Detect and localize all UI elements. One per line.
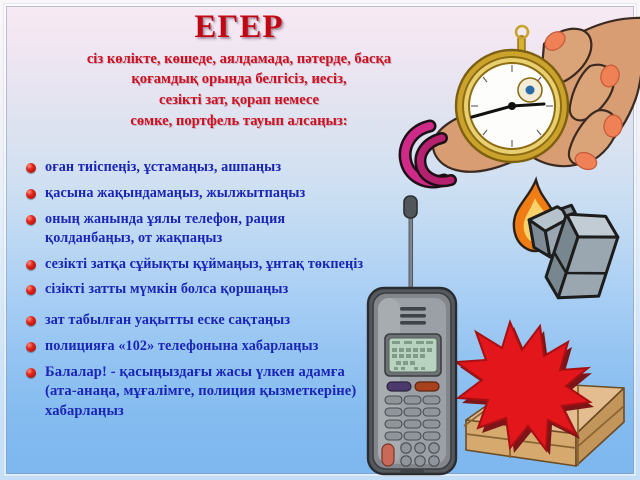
page-title: ЕГЕР bbox=[0, 10, 478, 45]
parcel-with-explosion-illustration bbox=[448, 316, 638, 476]
list-item: сезікті затқа сұйықты құймаңыз, ұнтақ тө… bbox=[14, 255, 374, 274]
list-item: оның жанында ұялы телефон, рация қолданб… bbox=[14, 210, 374, 248]
bullet-dot-icon bbox=[26, 215, 36, 225]
list-item-label: оған тиіспеңіз, ұстамаңыз, ашпаңыз bbox=[45, 158, 281, 177]
subtitle-line-4: сөмке, портфель тауып алсаңыз: bbox=[0, 111, 478, 132]
list-item-label: сізікті затты мүмкін болса қоршаңыз bbox=[45, 280, 288, 299]
list-item: зат табылған уақытты еске сақтаңыз bbox=[14, 311, 374, 330]
instruction-list: оған тиіспеңіз, ұстамаңыз, ашпаңыз қасын… bbox=[14, 158, 374, 428]
list-item-label: қасына жақындамаңыз, жылжытпаңыз bbox=[45, 184, 305, 203]
list-item: Балалар! - қасыңыздағы жасы үлкен адамға… bbox=[14, 363, 374, 421]
list-item-label: полицияға «102» телефонына хабарлаңыз bbox=[45, 337, 318, 356]
bullet-dot-icon bbox=[26, 189, 36, 199]
subtitle-line-2: қоғамдық орында белгісіз, иесіз, bbox=[0, 69, 478, 90]
list-item: қасына жақындамаңыз, жылжытпаңыз bbox=[14, 184, 374, 203]
subtitle-line-3: сезікті зат, қорап немесе bbox=[0, 90, 478, 111]
list-item-label: Балалар! - қасыңыздағы жасы үлкен адамға… bbox=[45, 363, 374, 421]
list-item-label: оның жанында ұялы телефон, рация қолданб… bbox=[45, 210, 374, 248]
poster-slide: ЕГЕР сіз көлікте, көшеде, аялдамада, пәт… bbox=[0, 0, 640, 480]
list-item: сізікті затты мүмкін болса қоршаңыз bbox=[14, 280, 374, 299]
header-block: ЕГЕР сіз көлікте, көшеде, аялдамада, пәт… bbox=[0, 10, 478, 132]
list-item-label: сезікті затқа сұйықты құймаңыз, ұнтақ тө… bbox=[45, 255, 363, 274]
subtitle-line-1: сіз көлікте, көшеде, аялдамада, пәтерде,… bbox=[0, 49, 478, 70]
bullet-dot-icon bbox=[26, 368, 36, 378]
bullet-dot-icon bbox=[26, 316, 36, 326]
list-item: оған тиіспеңіз, ұстамаңыз, ашпаңыз bbox=[14, 158, 374, 177]
bullet-dot-icon bbox=[26, 342, 36, 352]
bullet-dot-icon bbox=[26, 260, 36, 270]
bullet-dot-icon bbox=[26, 163, 36, 173]
bullet-dot-icon bbox=[26, 285, 36, 295]
list-item-label: зат табылған уақытты еске сақтаңыз bbox=[45, 311, 290, 330]
antenna bbox=[404, 196, 417, 294]
list-item: полицияға «102» телефонына хабарлаңыз bbox=[14, 337, 374, 356]
